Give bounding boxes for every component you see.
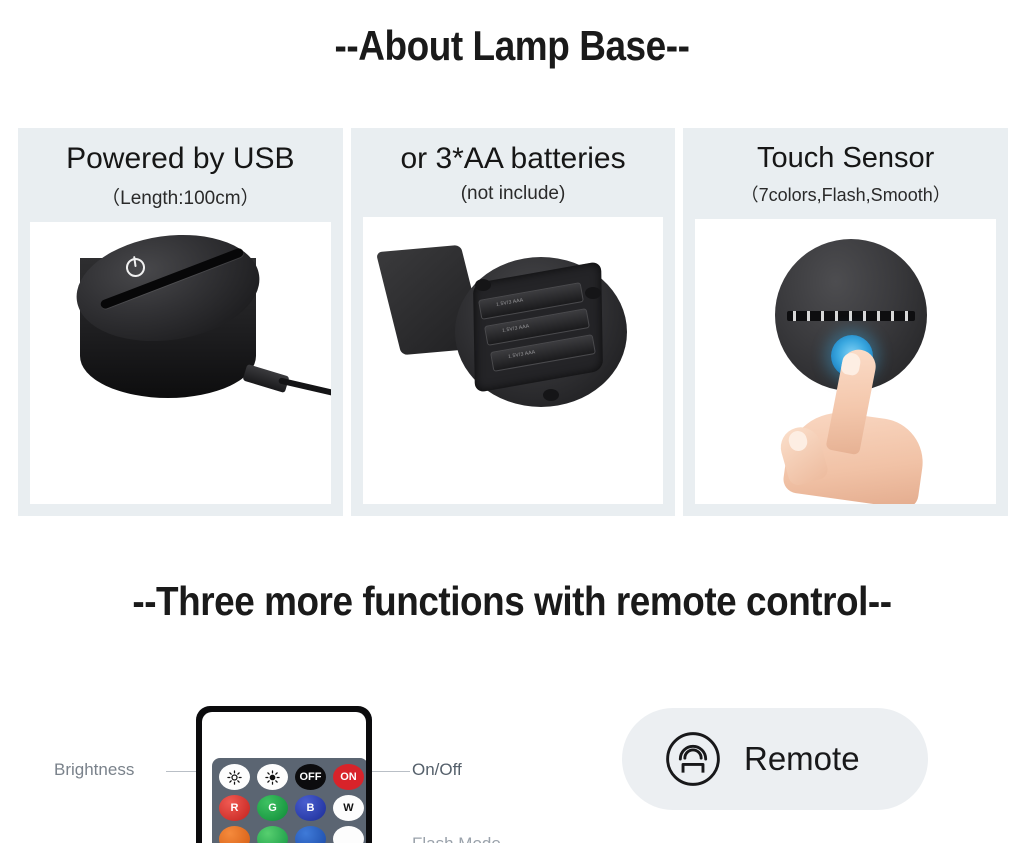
lamp-base-illustration	[30, 222, 331, 504]
power-on-button[interactable]: ON	[333, 764, 364, 790]
page-title: --About Lamp Base--	[61, 22, 962, 70]
brightness-up-icon	[265, 770, 280, 785]
remote-badge[interactable]: Remote	[622, 708, 928, 810]
battery-slot-label: 1.5V/3 AAA	[495, 297, 523, 308]
remote-row-secondary-colors	[219, 826, 361, 843]
remote-row-power: OFF ON	[219, 764, 361, 790]
color-button-blue[interactable]: B	[295, 795, 326, 821]
product-infographic: --About Lamp Base-- Powered by USB （Leng…	[0, 0, 1024, 843]
battery-slot-label: 1.5V/3 AAA	[501, 323, 529, 334]
battery-compartment-photo: 1.5V/3 AAA 1.5V/3 AAA 1.5V/3 AAA	[363, 217, 664, 504]
remote-control-device[interactable]: OFF ON R G B W	[196, 706, 372, 843]
panel-title-touch: Touch Sensor	[695, 142, 996, 174]
touch-sensor-photo	[695, 219, 996, 504]
color-button-green[interactable]: G	[257, 795, 288, 821]
panel-subtitle-batteries: (not include)	[363, 183, 664, 205]
battery-slot-label: 1.5V/3 AAA	[507, 349, 535, 360]
remote-signal-icon	[664, 730, 722, 788]
panel-title-usb: Powered by USB	[30, 142, 331, 176]
color-button-orange[interactable]	[219, 826, 250, 843]
callout-flash-mode: Flash Mode	[412, 834, 501, 843]
callout-brightness: Brightness	[54, 760, 134, 780]
feature-panels: Powered by USB （Length:100cm） or 3*AA ba…	[18, 128, 1008, 516]
mode-button-flash[interactable]	[333, 826, 364, 843]
power-off-button[interactable]: OFF	[295, 764, 326, 790]
rubber-foot	[543, 389, 559, 401]
color-button-white[interactable]: W	[333, 795, 364, 821]
section-title-remote: --Three more functions with remote contr…	[51, 578, 973, 625]
brightness-down-icon	[227, 770, 242, 785]
usb-lamp-base-photo	[30, 222, 331, 504]
rubber-foot	[475, 279, 491, 291]
remote-faceplate: OFF ON R G B W	[202, 712, 366, 843]
panel-touch-sensor: Touch Sensor （7colors,Flash,Smooth）	[683, 128, 1008, 516]
remote-row-primary-colors: R G B W	[219, 795, 361, 821]
panel-aa-batteries: or 3*AA batteries (not include) 1.5V/3 A…	[351, 128, 676, 516]
rubber-foot	[585, 287, 601, 299]
color-button-red[interactable]: R	[219, 795, 250, 821]
panel-powered-by-usb: Powered by USB （Length:100cm）	[18, 128, 343, 516]
panel-subtitle-usb: （Length:100cm）	[30, 183, 331, 210]
panel-subtitle-touch: （7colors,Flash,Smooth）	[695, 181, 996, 207]
color-button-light-green[interactable]	[257, 826, 288, 843]
leader-line-onoff	[372, 771, 410, 772]
callout-onoff: On/Off	[412, 760, 462, 780]
remote-badge-label: Remote	[744, 740, 860, 778]
remote-button-pad: OFF ON R G B W	[212, 758, 366, 843]
brightness-down-button[interactable]	[219, 764, 250, 790]
led-strip	[787, 311, 915, 321]
color-button-light-blue[interactable]	[295, 826, 326, 843]
brightness-up-button[interactable]	[257, 764, 288, 790]
panel-title-batteries: or 3*AA batteries	[363, 142, 664, 176]
